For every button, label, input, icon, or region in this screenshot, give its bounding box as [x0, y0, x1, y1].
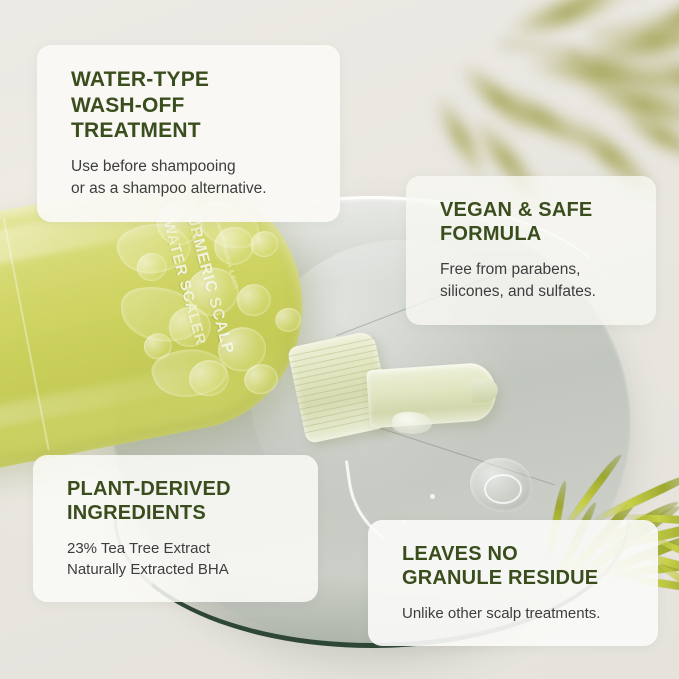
- gel-bubble: [273, 306, 303, 335]
- leaf-blade: [432, 92, 488, 179]
- card-heading: LEAVES NO GRANULE RESIDUE: [402, 542, 632, 591]
- leaf-blade: [527, 50, 669, 93]
- card-body: Use before shampooing or as a shampoo al…: [71, 156, 314, 200]
- product-infographic: TURMERIC SCALP WATER SCALER Cosmetic Roo…: [0, 0, 679, 679]
- leaf-blade: [576, 73, 679, 135]
- leaf-stem: [499, 42, 679, 65]
- leaf-stem: [564, 50, 679, 109]
- card-body: Unlike other scalp treatments.: [402, 603, 632, 624]
- info-card-no-residue: LEAVES NO GRANULE RESIDUE Unlike other s…: [368, 520, 658, 646]
- info-card-vegan-safe: VEGAN & SAFE FORMULA Free from parabens,…: [406, 176, 656, 325]
- leaf-blade: [588, 25, 679, 58]
- card-body: 23% Tea Tree Extract Naturally Extracted…: [67, 538, 292, 581]
- leaf-blade: [628, 64, 679, 92]
- leaf-blade: [618, 0, 679, 4]
- leaf-blade: [615, 103, 679, 169]
- leaf-blade: [673, 60, 679, 95]
- info-card-water-type: WATER-TYPE WASH-OFF TREATMENT Use before…: [37, 45, 340, 222]
- leaf-blade: [559, 0, 656, 18]
- gel-droplet: [470, 458, 532, 512]
- leaf-stem: [590, 7, 679, 37]
- card-body: Free from parabens, silicones, and sulfa…: [440, 259, 630, 303]
- leaf-blade: [506, 0, 627, 41]
- leaf-blade: [484, 79, 598, 156]
- grass-blade: [655, 559, 679, 617]
- leaf-blade: [674, 0, 679, 32]
- card-heading: VEGAN & SAFE FORMULA: [440, 198, 630, 247]
- bottle-nozzle-tip: [366, 362, 498, 429]
- leaf-blade: [633, 0, 679, 45]
- card-heading: WATER-TYPE WASH-OFF TREATMENT: [71, 67, 314, 144]
- info-card-plant-derived: PLANT-DERIVED INGREDIENTS 23% Tea Tree E…: [33, 455, 318, 602]
- leaf-blade: [457, 59, 539, 139]
- gel-dot: [430, 494, 435, 499]
- card-heading: PLANT-DERIVED INGREDIENTS: [67, 477, 292, 526]
